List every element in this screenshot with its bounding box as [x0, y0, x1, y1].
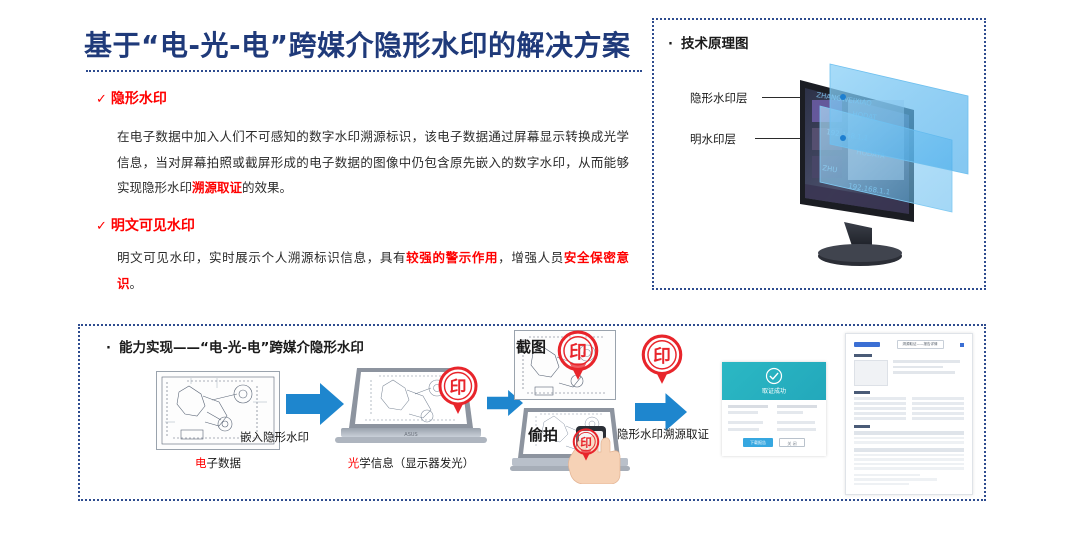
section-body-visible-watermark: 明文可见水印，实时展示个人溯源标识信息，具有较强的警示作用，增强人员安全保密意识…	[117, 245, 629, 296]
section-heading-label: 隐形水印	[111, 91, 167, 107]
result-card-body: 下载报告 关 闭	[722, 400, 826, 452]
svg-text:印: 印	[569, 342, 587, 363]
svg-text:印: 印	[653, 346, 671, 367]
technical-principle-title: ·技术原理图	[668, 32, 748, 52]
svg-text:ASUS: ASUS	[404, 432, 417, 438]
anchor-dot-invisible	[840, 94, 846, 100]
result-card-header: 取证成功	[722, 362, 826, 400]
section-heading-visible-watermark: ✓明文可见水印	[96, 215, 195, 235]
report-title: 溯源取证——报告详情	[897, 340, 944, 349]
body-highlight-part: 较强的警示作用	[406, 250, 498, 265]
caption-rest: 学信息（显示器发光）	[359, 456, 474, 470]
success-check-icon	[765, 367, 783, 385]
stamp-badge-phone: 印	[571, 428, 601, 466]
stamp-badge-optical: 印	[437, 366, 479, 420]
svg-text:印: 印	[450, 378, 467, 398]
caption-red-char: 光	[348, 456, 360, 470]
forensics-report-document: 溯源取证——报告详情	[845, 333, 973, 495]
caption-optical-info: 光学信息（显示器发光）	[330, 455, 492, 471]
download-report-button[interactable]: 下载报告	[743, 438, 773, 447]
label-sneak-photo: 偷拍	[528, 424, 558, 445]
body-text-part: 的效果。	[242, 180, 292, 195]
caption-rest: 子数据	[207, 456, 242, 470]
seal-stamp-icon: 印	[437, 366, 479, 416]
section-heading-label: 明文可见水印	[111, 218, 195, 234]
slide-canvas: 基于“电-光-电”跨媒介隐形水印的解决方案 ✓隐形水印 在电子数据中加入人们不可…	[0, 0, 1080, 539]
seal-stamp-icon: 印	[571, 428, 601, 462]
stamp-badge-screenshot: 印	[556, 330, 600, 386]
stamp-badge-extracted: 印	[640, 334, 684, 390]
label-trace-forensics: 隐形水印溯源取证	[617, 426, 709, 442]
caption-electronic-data: 电子数据	[156, 455, 280, 471]
result-status-text: 取证成功	[722, 386, 826, 395]
svg-text:印: 印	[580, 435, 592, 449]
label-visible-watermark-layer: 明水印层	[690, 131, 736, 147]
check-icon: ✓	[96, 219, 107, 234]
label-embed-watermark: 嵌入隐形水印	[240, 429, 309, 445]
body-highlight-part: 溯源取证	[192, 180, 242, 195]
body-text-part: 明文可见水印，实时展示个人溯源标识信息，具有	[117, 250, 406, 265]
bullet-dot-icon: ·	[668, 37, 673, 52]
capability-flow-title: ·能力实现——“电-光-电”跨媒介隐形水印	[106, 336, 364, 356]
label-invisible-watermark-layer: 隐形水印层	[690, 90, 748, 106]
title-divider	[86, 70, 642, 72]
anchor-dot-visible	[840, 135, 846, 141]
monitor-illustration: ZHANGWEIXIAO HODAT 192.168.1.1 HODATA ZH…	[756, 62, 982, 284]
page-title: 基于“电-光-电”跨媒介隐形水印的解决方案	[84, 24, 631, 64]
panel-title-label: 技术原理图	[681, 36, 749, 52]
report-logo	[854, 342, 880, 347]
close-button[interactable]: 关 闭	[779, 438, 805, 447]
check-icon: ✓	[96, 92, 107, 107]
monitor-layers-svg: ZHANGWEIXIAO HODAT 192.168.1.1 HODATA ZH…	[756, 62, 982, 284]
section-body-invisible-watermark: 在电子数据中加入人们不可感知的数字水印溯源标识，该电子数据通过屏幕显示转换成光学…	[117, 124, 629, 201]
panel-title-label: 能力实现——“电-光-电”跨媒介隐形水印	[119, 340, 364, 356]
forensics-result-card: 取证成功 下载报告	[722, 362, 826, 456]
body-text-part: ，增强人员	[498, 250, 564, 265]
label-screenshot: 截图	[516, 336, 546, 357]
report-corner-mark	[960, 343, 964, 347]
caption-red-char: 电	[195, 456, 207, 470]
body-text-part: 。	[130, 276, 143, 291]
section-heading-invisible-watermark: ✓隐形水印	[96, 88, 167, 108]
seal-stamp-icon: 印	[556, 330, 600, 382]
seal-stamp-icon: 印	[640, 334, 684, 386]
bullet-dot-icon: ·	[106, 341, 111, 356]
